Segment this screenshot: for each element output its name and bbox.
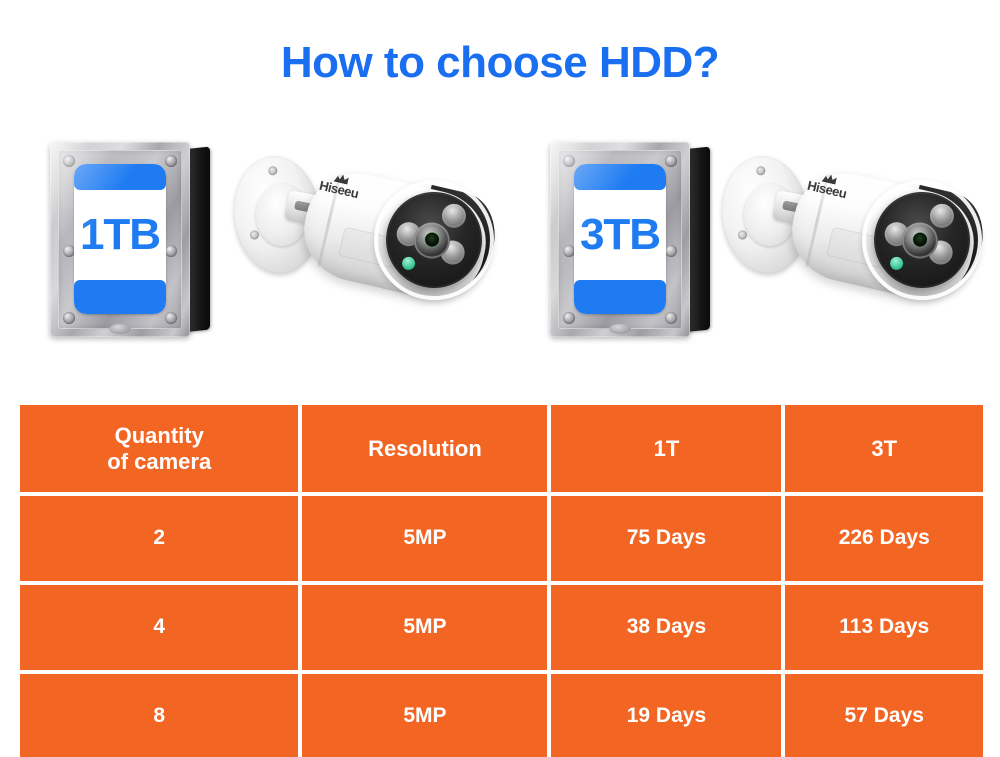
hdd-screw-icon	[165, 245, 177, 257]
hdd-screw-icon	[665, 245, 677, 257]
hdd-body: 1TB	[50, 142, 190, 337]
hdd-body: 3TB	[550, 142, 690, 337]
cell-days-1t: 75 Days	[551, 496, 781, 581]
bullet-camera-left-image: Hiseeu	[228, 140, 518, 345]
camera-ir-led-icon	[440, 201, 469, 230]
bullet-camera-right-image: Hiseeu	[716, 140, 1000, 345]
camera-ir-led-icon	[928, 201, 957, 230]
mount-screw-icon	[756, 166, 766, 176]
table-row: 2 5MP 75 Days 226 Days	[20, 496, 983, 581]
cell-days-1t: 38 Days	[551, 585, 781, 670]
hdd-spindle	[109, 324, 131, 334]
hdd-screw-icon	[563, 155, 575, 167]
hdd-screw-icon	[665, 312, 677, 324]
page-title: How to choose HDD?	[0, 38, 1000, 88]
hdd-capacity-table: Quantity of camera Resolution 1T 3T 2 5M…	[20, 405, 983, 747]
table-row: 8 5MP 19 Days 57 Days	[20, 674, 983, 757]
product-showcase: 1TB Hiseeu	[0, 130, 1000, 360]
hdd-3tb-image: 3TB	[550, 142, 710, 337]
cell-quantity: 2	[20, 496, 298, 581]
mount-screw-icon	[268, 166, 278, 176]
cell-quantity: 8	[20, 674, 298, 757]
table-header-resolution: Resolution	[302, 405, 547, 492]
table-header-1t: 1T	[551, 405, 781, 492]
cell-days-3t: 226 Days	[785, 496, 983, 581]
table-header-quantity: Quantity of camera	[20, 405, 298, 492]
mount-screw-icon	[250, 230, 260, 240]
cell-resolution: 5MP	[302, 496, 547, 581]
table-header-3t: 3T	[785, 405, 983, 492]
hdd-screw-icon	[63, 155, 75, 167]
cell-days-3t: 113 Days	[785, 585, 983, 670]
hdd-label: 3TB	[574, 164, 666, 314]
camera-indicator-dot	[889, 256, 905, 272]
cell-resolution: 5MP	[302, 585, 547, 670]
hdd-screw-icon	[63, 312, 75, 324]
hdd-capacity-text: 1TB	[74, 206, 166, 264]
cell-days-3t: 57 Days	[785, 674, 983, 757]
hdd-label: 1TB	[74, 164, 166, 314]
hdd-spindle	[609, 324, 631, 334]
cell-days-1t: 19 Days	[551, 674, 781, 757]
camera-indicator-dot	[401, 256, 417, 272]
hdd-screw-icon	[665, 155, 677, 167]
mount-screw-icon	[738, 230, 748, 240]
hdd-screw-icon	[165, 155, 177, 167]
hdd-screw-icon	[563, 312, 575, 324]
hdd-1tb-image: 1TB	[50, 142, 210, 337]
cell-resolution: 5MP	[302, 674, 547, 757]
hdd-selection-infographic: How to choose HDD? 1TB	[0, 0, 1000, 757]
hdd-capacity-text: 3TB	[574, 206, 666, 264]
hdd-screw-icon	[165, 312, 177, 324]
table-header-row: Quantity of camera Resolution 1T 3T	[20, 405, 983, 492]
table-row: 4 5MP 38 Days 113 Days	[20, 585, 983, 670]
cell-quantity: 4	[20, 585, 298, 670]
